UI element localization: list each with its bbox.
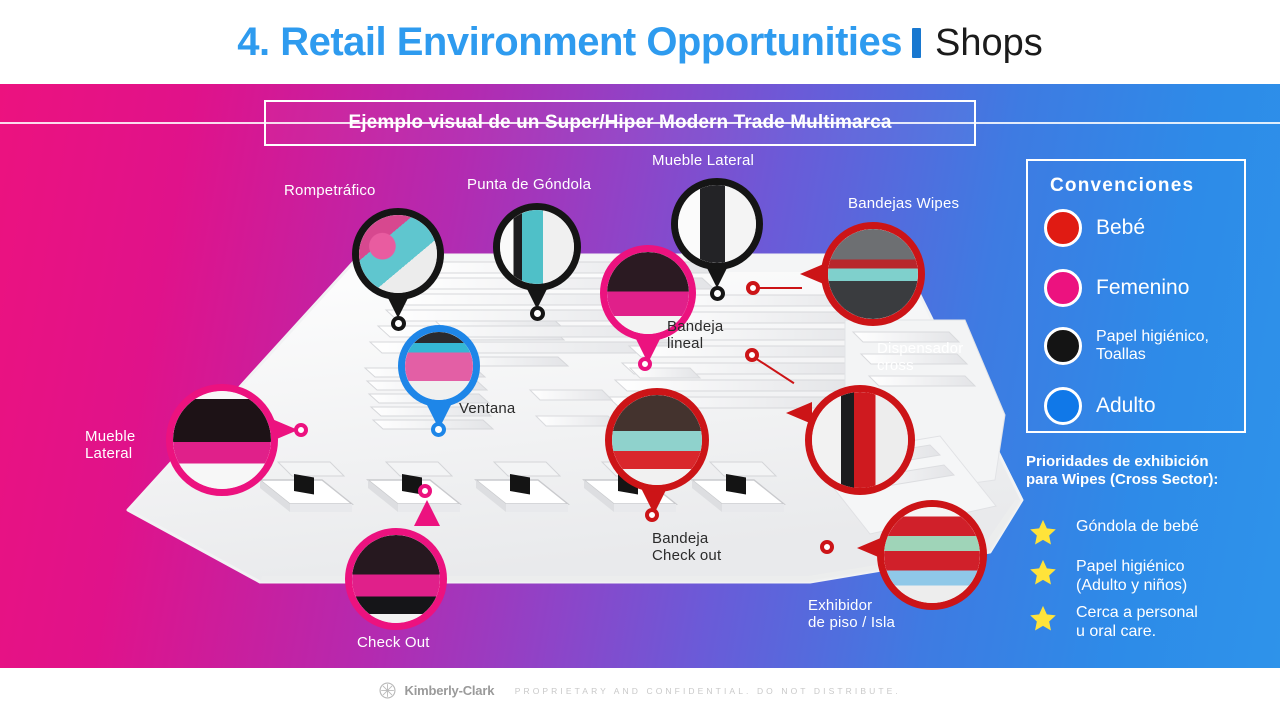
footer-bar: Kimberly-Clark PROPRIETARY AND CONFIDENT…: [0, 668, 1280, 720]
callout-pin-punta-gondola: [530, 306, 545, 321]
callout-pin-mueble-lateral-top: [710, 286, 725, 301]
legend-item-femenino[interactable]: Femenino: [1044, 269, 1189, 307]
footer-brand: Kimberly-Clark: [405, 683, 495, 698]
callout-tail-check-out: [414, 500, 440, 526]
callout-label-punta-gondola: Punta de Góndola: [467, 176, 591, 193]
callout-circle-mueble-lateral-top[interactable]: [671, 178, 763, 270]
callout-label-mueble-lateral-top: Mueble Lateral: [652, 152, 754, 169]
priority-item-papel-higienico: Papel higiénico (Adulto y niños): [1028, 558, 1187, 596]
legend-title: Convenciones: [1050, 175, 1194, 197]
callout-circle-punta-gondola[interactable]: [493, 203, 581, 291]
star-icon: [1028, 604, 1058, 633]
callout-label-bandeja-check-out: Bandeja Check out: [652, 530, 721, 565]
title-bar: 4. Retail Environment OpportunitiesShops: [0, 0, 1280, 84]
callout-circle-exhibidor-piso[interactable]: [877, 500, 987, 610]
priority-label-3: Cerca a personal u oral care.: [1076, 604, 1198, 642]
callout-circle-ventana[interactable]: [398, 325, 480, 407]
priority-label-2: Papel higiénico (Adulto y niños): [1076, 558, 1187, 596]
kimberly-clark-logo-icon: [379, 682, 396, 699]
callout-circle-bandejas-wipes[interactable]: [821, 222, 925, 326]
priorities-title: Prioridades de exhibición para Wipes (Cr…: [1026, 453, 1266, 489]
callout-label-dispensador-cross: Dispensador cross: [877, 340, 963, 375]
callout-pin-rompetrafico: [391, 316, 406, 331]
star-icon: [1028, 558, 1058, 587]
priority-item-gondola-bebe: Góndola de bebé: [1028, 518, 1199, 547]
footer-confidential-notice: PROPRIETARY AND CONFIDENTIAL. DO NOT DIS…: [515, 686, 901, 696]
banner-box: Ejemplo visual de un Super/Hiper Modern …: [264, 100, 976, 146]
page-title-main: 4. Retail Environment Opportunities: [237, 20, 902, 64]
legend-dot-red: [1044, 209, 1082, 247]
legend-item-bebe[interactable]: Bebé: [1044, 209, 1145, 247]
callout-circle-check-out[interactable]: [345, 528, 447, 630]
callout-pin-ventana: [431, 422, 446, 437]
legend-dot-blue: [1044, 387, 1082, 425]
callout-label-mueble-lateral-left: Mueble Lateral: [85, 428, 135, 463]
callout-pin-mueble-lateral-left: [294, 423, 308, 437]
callout-label-exhibidor-piso: Exhibidor de piso / Isla: [808, 597, 895, 632]
callout-circle-mueble-lateral-left[interactable]: [166, 384, 278, 496]
callout-pin-exhibidor-piso: [820, 540, 834, 554]
priority-label-1: Góndola de bebé: [1076, 518, 1199, 537]
page-title-sub: Shops: [935, 22, 1043, 64]
legend-item-adulto[interactable]: Adulto: [1044, 387, 1156, 425]
banner-label: Ejemplo visual de un Super/Hiper Modern …: [349, 112, 892, 134]
callout-label-ventana: Ventana: [459, 400, 515, 417]
callout-circle-dispensador-cross[interactable]: [805, 385, 915, 495]
callout-label-check-out: Check Out: [357, 634, 430, 651]
callout-pin-bandeja-check-out: [645, 508, 659, 522]
star-icon: [1028, 518, 1058, 547]
legend-label-femenino: Femenino: [1096, 276, 1189, 300]
callout-pin-check-out: [418, 484, 432, 498]
legend-label-papel-higienico: Papel higiénico, Toallas: [1096, 328, 1209, 364]
callout-label-bandeja-lineal: Bandeja lineal: [667, 318, 723, 353]
page-title: 4. Retail Environment OpportunitiesShops: [0, 20, 1280, 65]
callout-circle-bandeja-check-out[interactable]: [605, 388, 709, 492]
callout-circle-rompetrafico[interactable]: [352, 208, 444, 300]
callout-pin-bandeja-lineal: [638, 357, 652, 371]
title-separator-bar: [912, 28, 921, 58]
callout-pin-dispensador-cross: [745, 348, 759, 362]
callout-pin-bandejas-wipes: [746, 281, 760, 295]
legend-label-bebe: Bebé: [1096, 216, 1145, 240]
legend-box: Convenciones Bebé Femenino Papel higiéni…: [1026, 159, 1246, 433]
callout-label-rompetrafico: Rompetráfico: [284, 182, 376, 199]
slide-root: 4. Retail Environment OpportunitiesShops…: [0, 0, 1280, 720]
legend-item-papel-higienico[interactable]: Papel higiénico, Toallas: [1044, 327, 1209, 365]
priority-item-cerca-personal: Cerca a personal u oral care.: [1028, 604, 1198, 642]
callout-label-bandejas-wipes: Bandejas Wipes: [848, 195, 959, 212]
legend-dot-black: [1044, 327, 1082, 365]
legend-label-adulto: Adulto: [1096, 394, 1156, 418]
legend-dot-pink: [1044, 269, 1082, 307]
